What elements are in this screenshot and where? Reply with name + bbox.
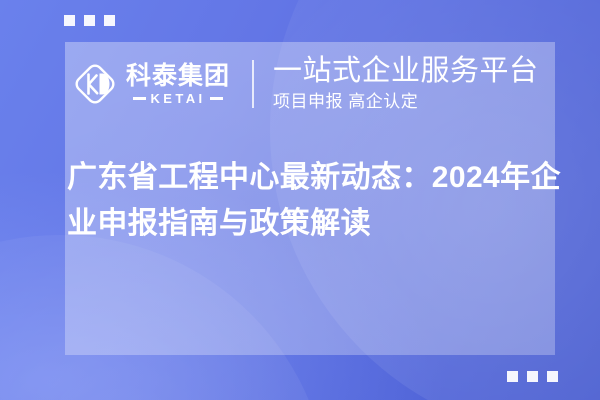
tagline-secondary: 项目申报 高企认定 bbox=[273, 91, 539, 112]
decor-square bbox=[84, 15, 95, 26]
promo-banner: 科泰集团 KETAI 一站式企业服务平台 项目申报 高企认定 广东省工程中心最新… bbox=[0, 0, 600, 400]
header-divider bbox=[252, 60, 254, 108]
brand-logo: 科泰集团 KETAI bbox=[68, 60, 230, 108]
decor-square bbox=[507, 371, 518, 382]
banner-header: 科泰集团 KETAI 一站式企业服务平台 项目申报 高企认定 bbox=[65, 42, 555, 126]
decor-dots-bottom-right bbox=[507, 371, 558, 382]
wordmark-rule-right bbox=[210, 97, 223, 100]
wordmark-rule-left bbox=[133, 97, 146, 100]
decor-dots-top-left bbox=[64, 15, 115, 26]
content-panel: 科泰集团 KETAI 一站式企业服务平台 项目申报 高企认定 广东省工程中心最新… bbox=[65, 42, 555, 355]
ketai-diamond-monogram-icon bbox=[71, 60, 119, 108]
tagline-primary: 一站式企业服务平台 bbox=[273, 56, 539, 87]
brand-wordmark: 科泰集团 KETAI bbox=[126, 63, 230, 105]
banner-headline: 广东省工程中心最新动态：2024年企业申报指南与政策解读 bbox=[67, 155, 587, 247]
brand-name-cn: 科泰集团 bbox=[126, 63, 230, 90]
decor-square bbox=[527, 371, 538, 382]
brand-tagline: 一站式企业服务平台 项目申报 高企认定 bbox=[273, 56, 539, 113]
brand-name-en-row: KETAI bbox=[133, 92, 222, 105]
decor-square bbox=[64, 15, 75, 26]
decor-square bbox=[547, 371, 558, 382]
brand-name-en: KETAI bbox=[150, 92, 205, 105]
decor-square bbox=[104, 15, 115, 26]
